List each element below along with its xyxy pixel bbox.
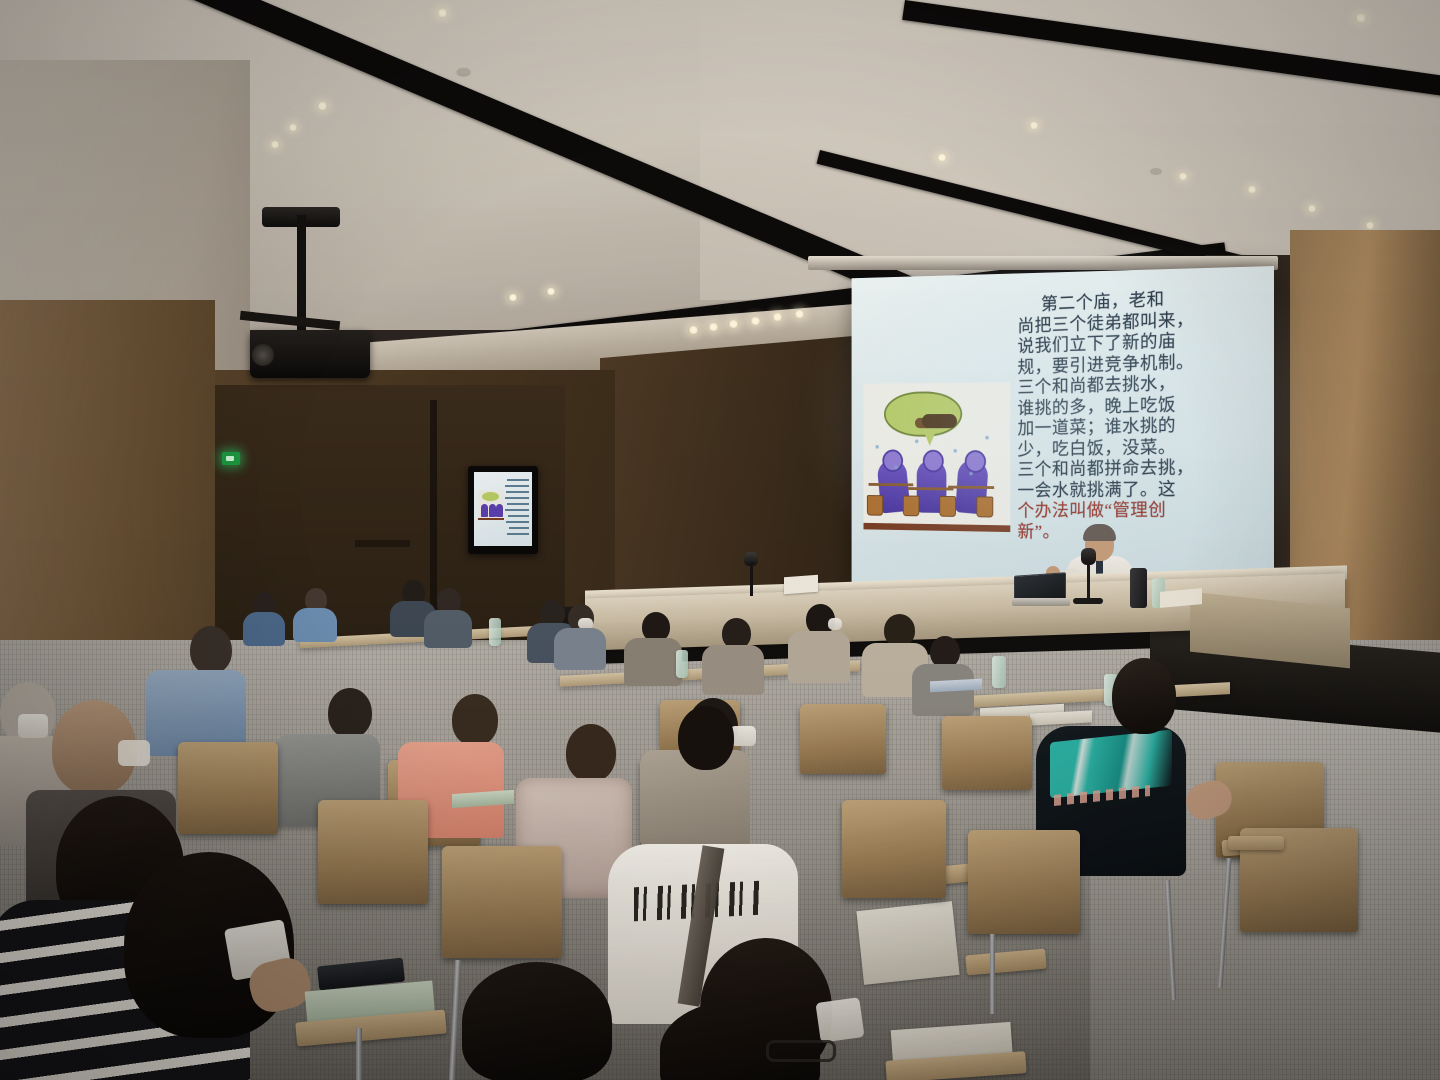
monitor-illustration <box>478 490 504 520</box>
ceiling-downlight <box>794 310 805 318</box>
attendee-head <box>1112 658 1176 734</box>
presenter-laptop-base[interactable] <box>1012 598 1070 606</box>
slide-line-highlight: 个办法叫做“管理创 <box>1017 500 1264 522</box>
attendee-head <box>452 694 498 746</box>
ceiling-downlight <box>772 313 783 321</box>
ceiling-downlight <box>317 102 328 110</box>
attendee-torso <box>702 645 764 695</box>
chair-leg <box>990 934 995 1014</box>
face-mask <box>18 714 48 738</box>
attendee-head <box>462 962 612 1080</box>
attendee-torso <box>243 612 285 646</box>
food-icon <box>922 414 957 428</box>
open-book[interactable] <box>856 901 959 985</box>
carry-pole <box>869 483 914 486</box>
ceiling-downlight <box>437 9 448 17</box>
attendee-torso <box>424 610 472 648</box>
attendee-torso <box>788 631 850 683</box>
slide-line-highlight: 新”。 <box>1017 522 1264 543</box>
stage-microphone-stand <box>750 562 753 596</box>
presenter-microphone-base <box>1073 598 1103 604</box>
emergency-exit-sign <box>222 452 240 465</box>
face-mask <box>815 997 864 1043</box>
water-bottle[interactable] <box>992 656 1006 688</box>
presenter-hair <box>1083 524 1116 541</box>
attendee-head <box>190 626 232 674</box>
ceiling-downlight <box>270 141 280 148</box>
ceiling-downlight <box>1307 205 1317 212</box>
eyeglasses-icon <box>766 1040 836 1062</box>
thought-bubble-icon <box>884 391 962 436</box>
ceiling-downlight <box>1355 14 1367 22</box>
sprinkler-head <box>457 68 470 75</box>
ceiling-downlight <box>508 294 518 301</box>
auditorium-chair[interactable] <box>178 742 278 834</box>
lecture-hall-photo: 第二个庙，老和 尚把三个徒弟都叫来， 说我们立下了新的庙 规，要引进竞争机制。 … <box>0 0 1440 1080</box>
attendee-torso <box>293 608 337 642</box>
slide-content: 第二个庙，老和 尚把三个徒弟都叫来， 说我们立下了新的庙 规，要引进竞争机制。 … <box>852 266 1274 596</box>
attendee-head <box>566 724 616 782</box>
ceiling-downlight <box>1178 173 1188 180</box>
attendee-torso <box>624 638 682 686</box>
chair-leg <box>356 1028 362 1080</box>
thermos-flask[interactable] <box>1130 568 1147 608</box>
auditorium-chair[interactable] <box>842 800 946 898</box>
slide-line: 一会水就挑满了。这 <box>1017 479 1264 502</box>
auditorium-chair[interactable] <box>442 846 562 958</box>
water-bottle[interactable] <box>676 650 688 678</box>
ceiling-downlight <box>1029 122 1039 129</box>
carry-pole <box>948 486 994 489</box>
auditorium-chair[interactable] <box>800 704 886 774</box>
auditorium-chair[interactable] <box>318 800 428 904</box>
auditorium-chair[interactable] <box>942 716 1032 790</box>
ceiling-downlight <box>750 317 761 325</box>
chair-tablet-arm[interactable] <box>1228 836 1284 850</box>
ceiling-downlight <box>708 323 719 331</box>
ceiling-downlight <box>1247 186 1257 193</box>
ceiling-downlight <box>937 154 947 161</box>
slide-line: 三个和尚都拼命去挑， <box>1017 457 1264 481</box>
water-bucket-icon <box>903 495 919 516</box>
carry-pole <box>908 487 953 490</box>
sprinkler-head <box>1150 168 1162 175</box>
slide-text-block: 第二个庙，老和 尚把三个徒弟都叫来， 说我们立下了新的庙 规，要引进竞争机制。 … <box>1010 284 1264 585</box>
auditorium-chair[interactable] <box>968 830 1080 934</box>
ceiling-downlight <box>546 288 556 295</box>
attendee-torso <box>554 628 606 670</box>
nameplate-card <box>784 575 818 594</box>
projector-lens <box>252 344 274 366</box>
water-bucket-icon <box>976 496 993 517</box>
ceiling-downlight <box>688 326 699 334</box>
door-handle-bar <box>355 540 410 547</box>
face-mask-strap <box>118 740 150 766</box>
water-bucket-icon <box>939 496 956 517</box>
water-bottle[interactable] <box>489 618 501 646</box>
projection-screen: 第二个庙，老和 尚把三个徒弟都叫来， 说我们立下了新的庙 规，要引进竞争机制。 … <box>852 266 1274 596</box>
attendee-head <box>328 688 372 738</box>
slide-illustration <box>863 382 1010 532</box>
water-bucket-icon <box>867 495 883 516</box>
attendee-head <box>678 706 734 770</box>
ceiling-downlight <box>1365 222 1375 229</box>
face-mask <box>828 618 842 630</box>
ceiling-downlight <box>728 320 739 328</box>
confidence-monitor-screen <box>474 472 532 546</box>
ceiling-downlight <box>288 124 298 131</box>
